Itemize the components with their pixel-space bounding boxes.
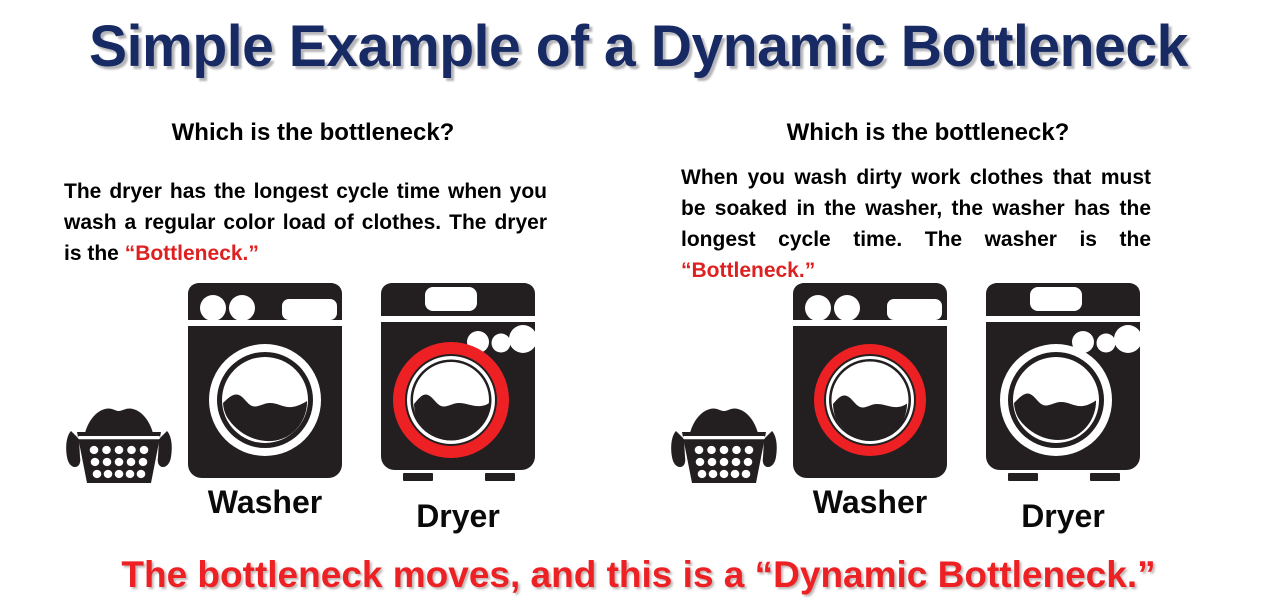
washer-left-label: Washer (180, 484, 350, 520)
washer-icon (785, 282, 955, 482)
slide-canvas: Simple Example of a Dynamic Bottleneck W… (0, 0, 1277, 614)
laundry-basket-right (668, 405, 780, 487)
dryer-right-label: Dryer (978, 498, 1148, 534)
washer-icon (180, 282, 350, 482)
scenario-panel-left: Which is the bottleneck? The dryer has t… (45, 118, 625, 269)
dryer-icon (373, 280, 543, 492)
washer-right-label: Washer (785, 484, 955, 520)
scenario-panel-right: Which is the bottleneck? When you wash d… (668, 118, 1248, 286)
dryer-right: Dryer (978, 280, 1148, 534)
washer-right-bottleneck: Washer (785, 282, 955, 520)
dryer-icon (978, 280, 1148, 492)
panel-right-body-text: When you wash dirty work clothes that mu… (681, 166, 1151, 251)
panel-right-bottleneck-highlight: “Bottleneck.” (681, 259, 815, 282)
laundry-basket-left (63, 405, 175, 487)
panel-left-heading: Which is the bottleneck? (63, 118, 563, 148)
laundry-basket-icon (668, 405, 780, 487)
page-title: Simple Example of a Dynamic Bottleneck (10, 14, 1268, 80)
dryer-left-bottleneck: Dryer (373, 280, 543, 534)
panel-left-body: The dryer has the longest cycle time whe… (64, 176, 547, 269)
dryer-left-label: Dryer (373, 498, 543, 534)
panel-right-heading: Which is the bottleneck? (678, 118, 1178, 148)
laundry-basket-icon (63, 405, 175, 487)
footer-caption: The bottleneck moves, and this is a “Dyn… (0, 552, 1277, 598)
panel-left-bottleneck-highlight: “Bottleneck.” (125, 242, 259, 265)
panel-right-body: When you wash dirty work clothes that mu… (681, 162, 1151, 286)
washer-left: Washer (180, 282, 350, 520)
